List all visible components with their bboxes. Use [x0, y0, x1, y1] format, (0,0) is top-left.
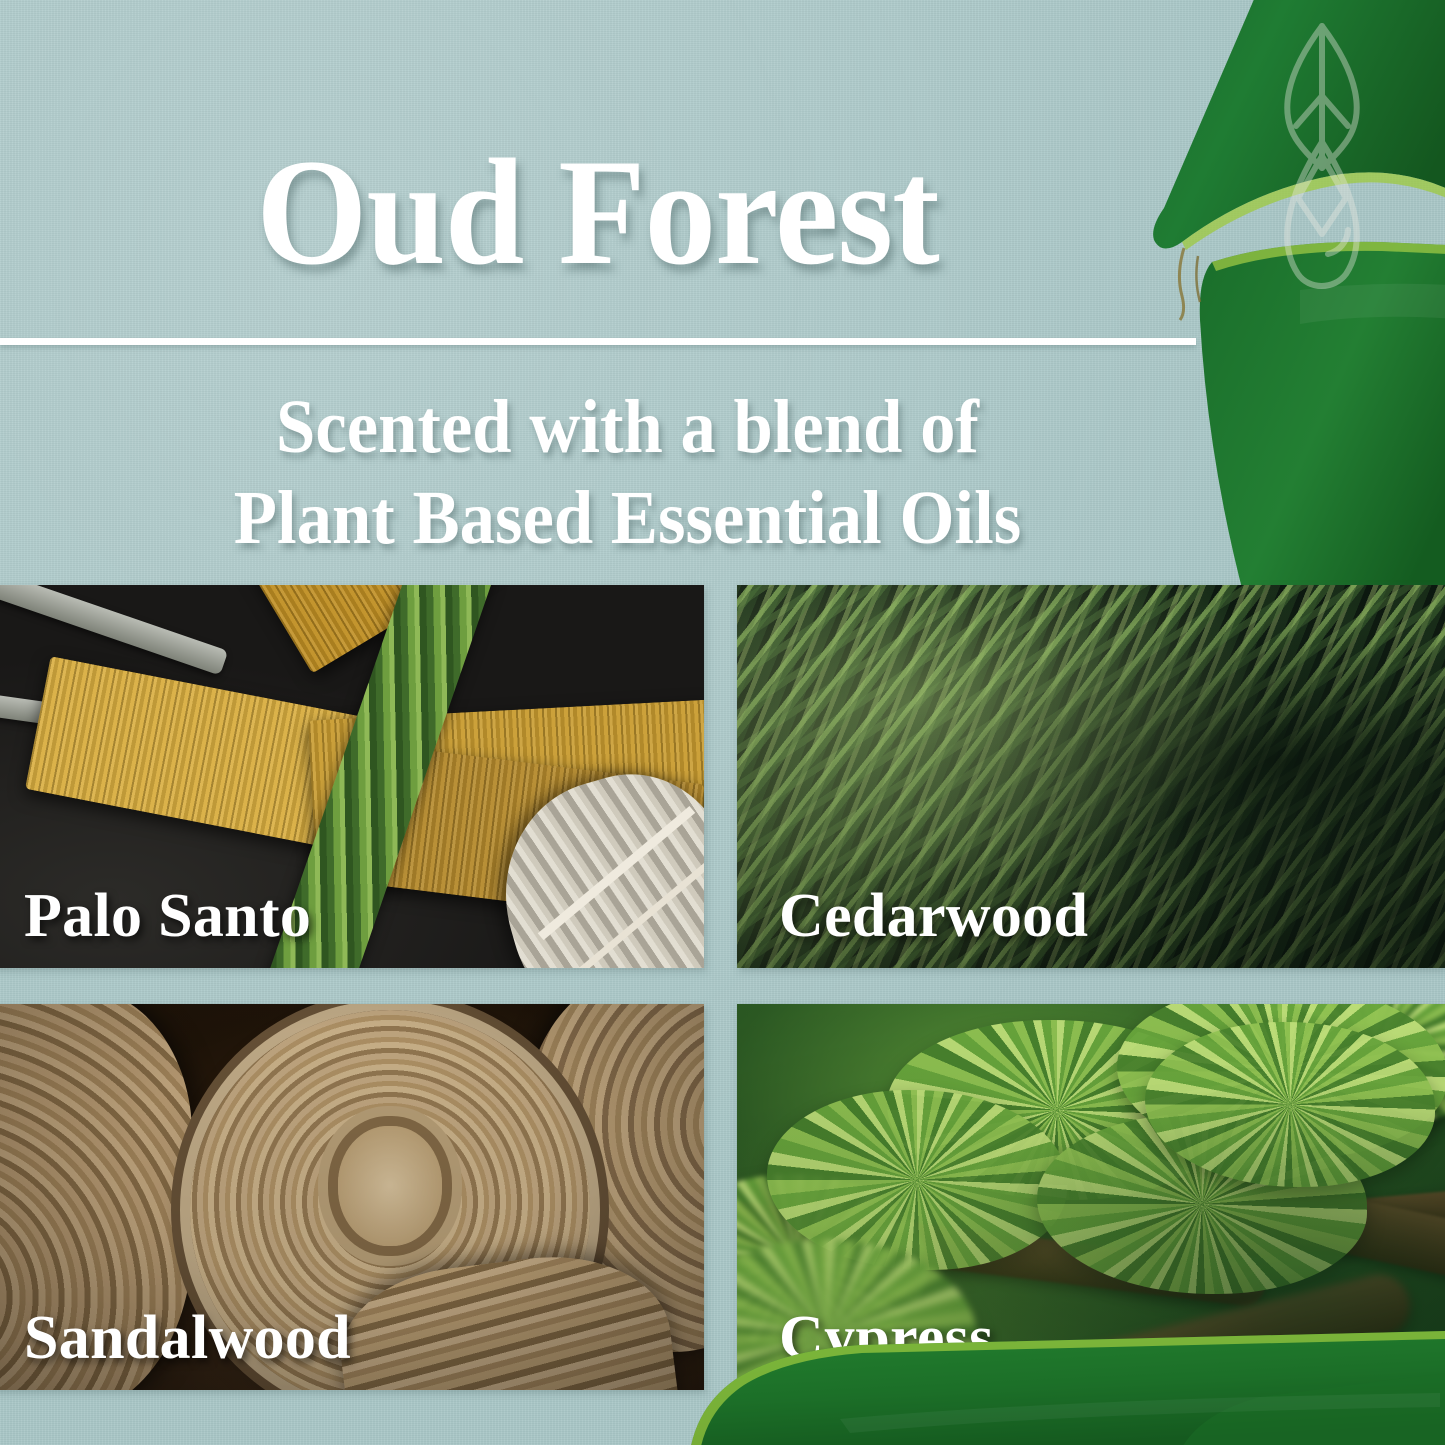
- product-feature-poster: Oud Forest Scented with a blend of Plant…: [0, 0, 1445, 1445]
- title-divider-rule: [0, 338, 1196, 345]
- ingredient-tile-cedarwood: Cedarwood: [737, 585, 1445, 968]
- subtitle-line-1: Scented with a blend of: [276, 385, 979, 469]
- ingredient-tile-sandalwood: Sandalwood: [0, 1004, 704, 1390]
- leaf-droplet-watermark-icon: [1262, 22, 1382, 337]
- ingredient-label-cedarwood: Cedarwood: [779, 881, 1088, 952]
- ingredient-label-cypress: Cypress: [779, 1303, 994, 1374]
- ingredient-tile-cypress: Cypress: [737, 1004, 1445, 1390]
- product-title: Oud Forest: [36, 136, 1159, 288]
- ingredient-label-palo-santo: Palo Santo: [24, 881, 311, 952]
- ingredient-tile-palo-santo: Palo Santo: [0, 585, 704, 968]
- ingredient-label-sandalwood: Sandalwood: [24, 1303, 351, 1374]
- subtitle-line-2: Plant Based Essential Oils: [44, 473, 1211, 564]
- product-subtitle: Scented with a blend of Plant Based Esse…: [44, 382, 1211, 564]
